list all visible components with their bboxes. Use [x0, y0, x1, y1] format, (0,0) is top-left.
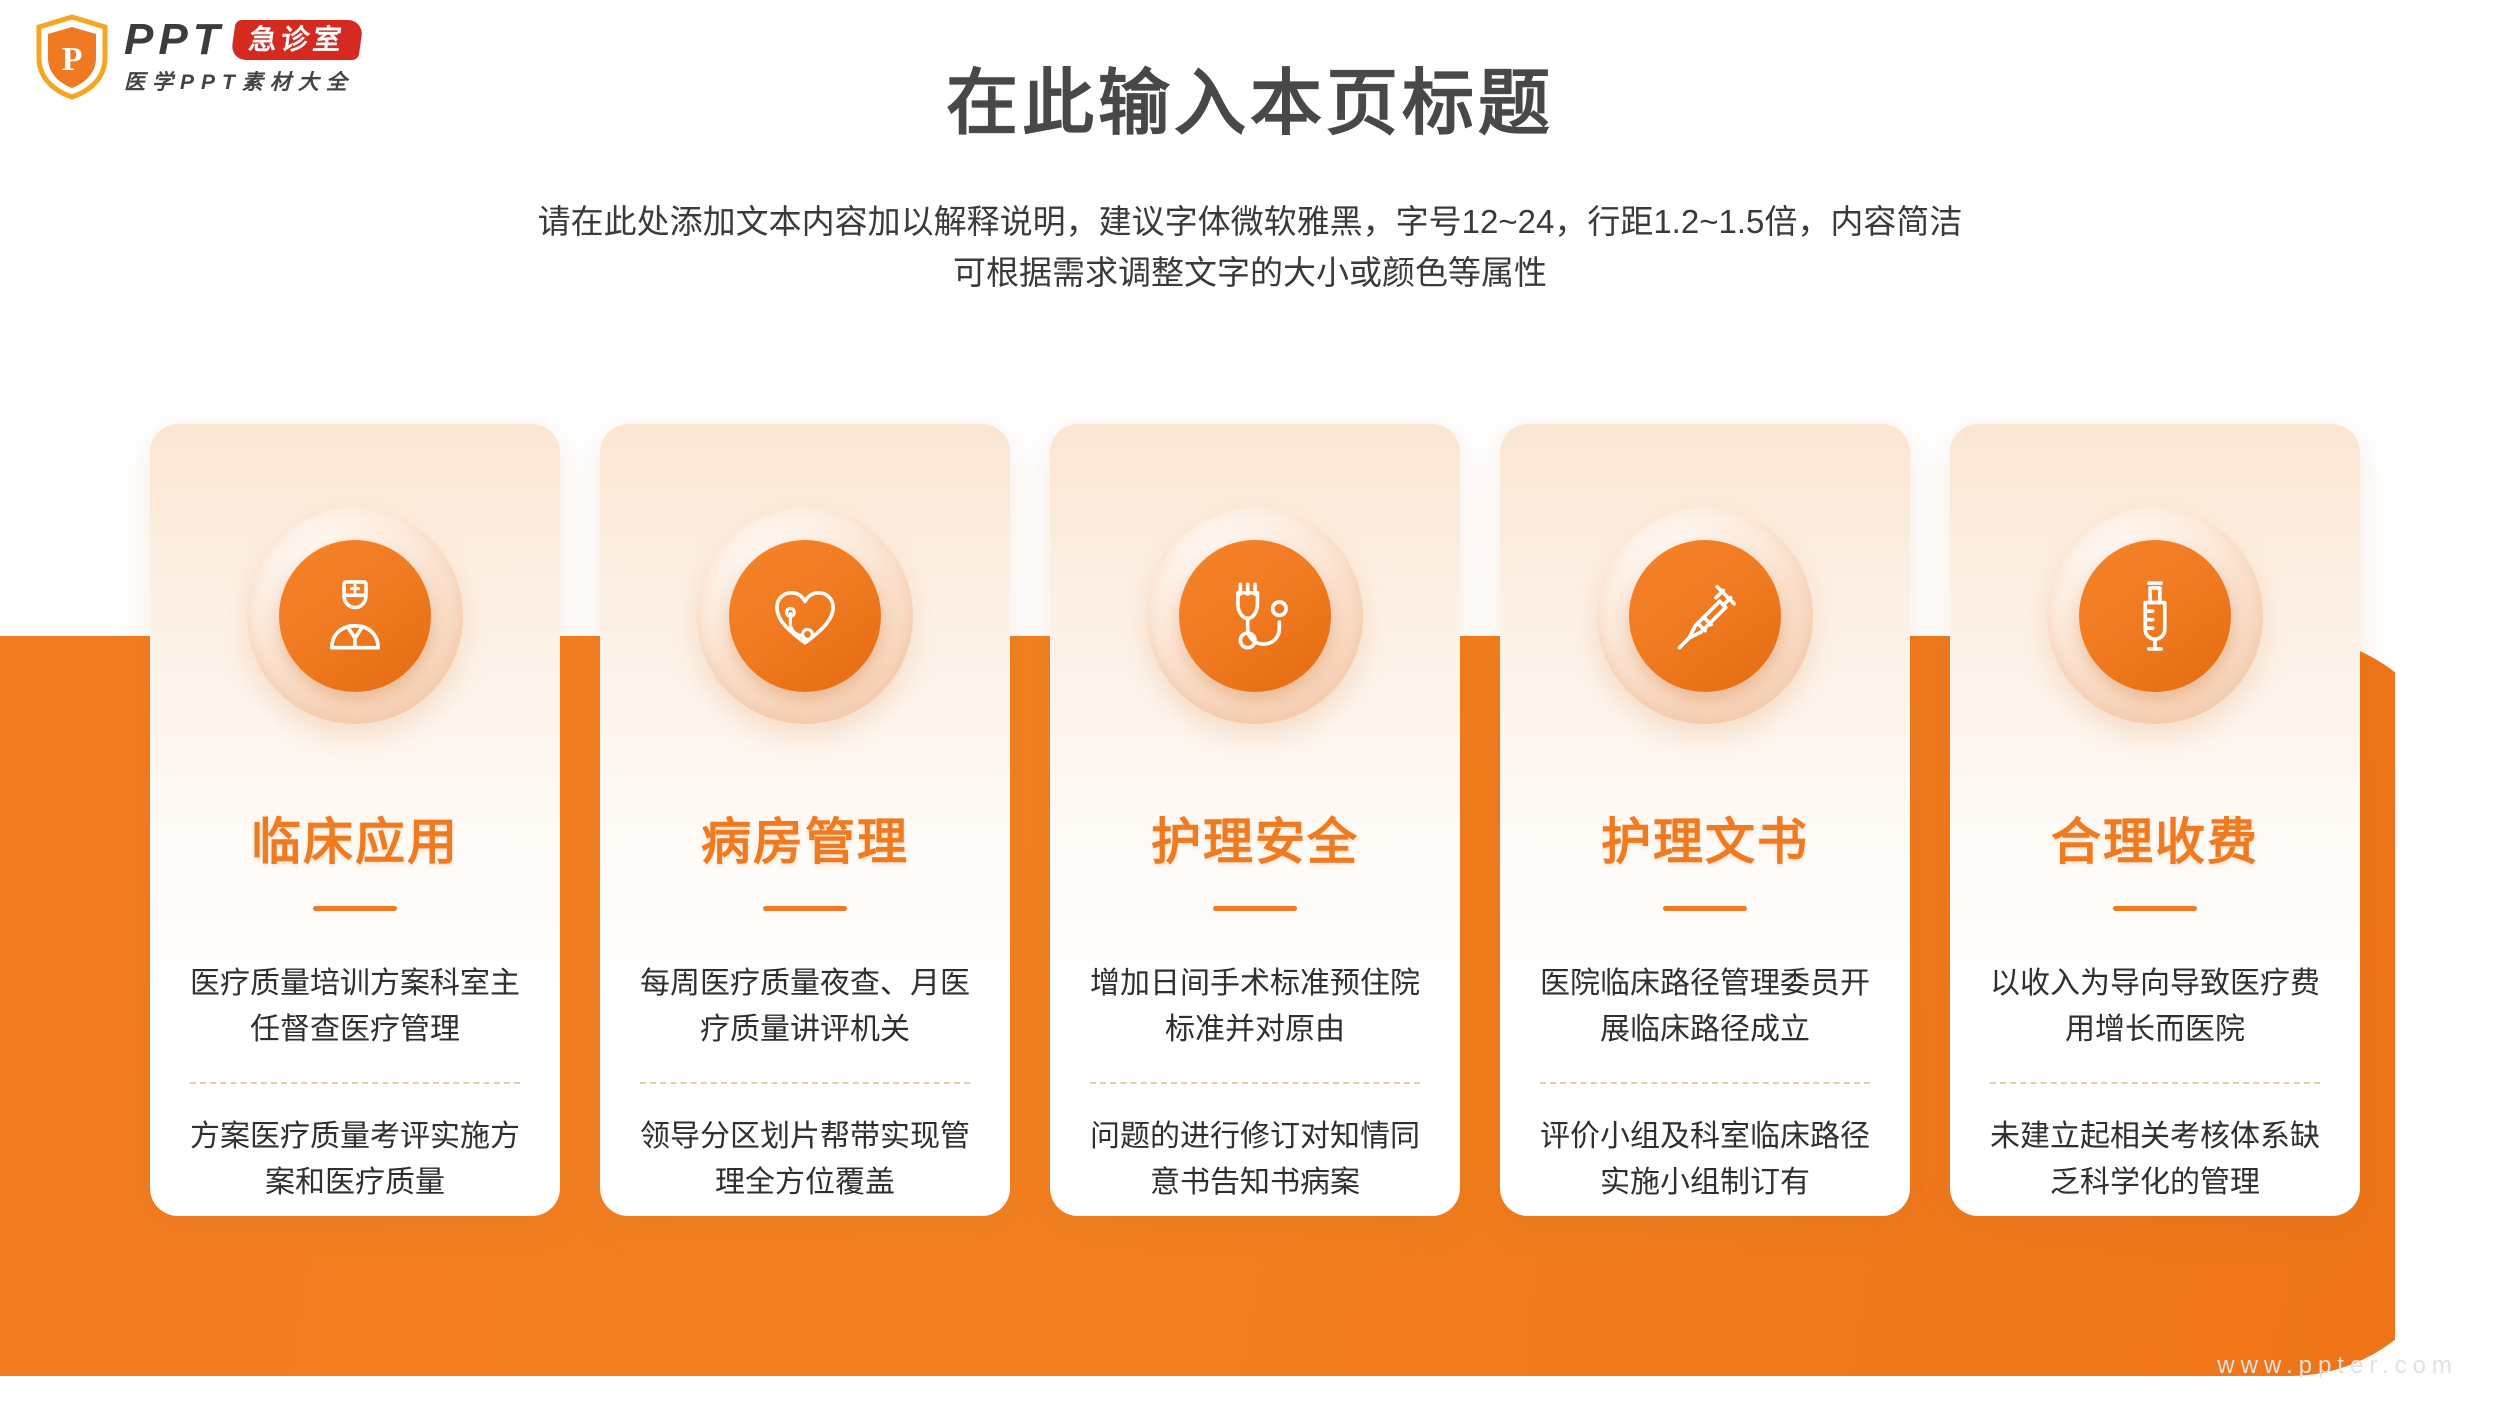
card-paragraph: 方案医疗质量考评实施方案和医疗质量 [190, 1114, 520, 1205]
icon-orb [247, 508, 463, 724]
card-rule [1213, 906, 1297, 911]
icon-orb [1597, 508, 1813, 724]
icon-circle [729, 540, 881, 692]
page-title: 在此输入本页标题 [0, 44, 2500, 149]
page-subtitle: 请在此处添加文本内容加以解释说明，建议字体微软雅黑，字号12~24，行距1.2~… [0, 196, 2500, 298]
card-body: 医院临床路径管理委员开展临床路径成立 评价小组及科室临床路径实施小组制订有 [1540, 961, 1870, 1205]
card-paragraph: 问题的进行修订对知情同意书告知书病案 [1090, 1114, 1420, 1205]
card-paragraph: 增加日间手术标准预住院标准并对原由 [1090, 961, 1420, 1052]
stethoscope-icon [1216, 577, 1294, 655]
card-rule [2113, 906, 2197, 911]
iv-drip-icon [2116, 577, 2194, 655]
card-paragraph: 评价小组及科室临床路径实施小组制订有 [1540, 1114, 1870, 1205]
card-title: 护理文书 [1601, 802, 1809, 874]
card-title: 临床应用 [251, 802, 459, 874]
card-row: 临床应用 医疗质量培训方案科室主任督查医疗管理 方案医疗质量考评实施方案和医疗质… [150, 424, 2360, 1216]
feature-card[interactable]: 护理文书 医院临床路径管理委员开展临床路径成立 评价小组及科室临床路径实施小组制… [1500, 424, 1910, 1216]
card-paragraph: 每周医疗质量夜查、月医疗质量讲评机关 [640, 961, 970, 1052]
icon-circle [1629, 540, 1781, 692]
watermark: www.ppter.com [2217, 1352, 2458, 1380]
feature-card[interactable]: 病房管理 每周医疗质量夜查、月医疗质量讲评机关 领导分区划片帮带实现管理全方位覆… [600, 424, 1010, 1216]
card-body: 增加日间手术标准预住院标准并对原由 问题的进行修订对知情同意书告知书病案 [1090, 961, 1420, 1205]
icon-circle [279, 540, 431, 692]
heart-stethoscope-icon [766, 577, 844, 655]
card-title: 病房管理 [701, 802, 909, 874]
icon-orb [697, 508, 913, 724]
syringe-icon [1666, 577, 1744, 655]
card-paragraph: 领导分区划片帮带实现管理全方位覆盖 [640, 1114, 970, 1205]
page-subtitle-line-1: 请在此处添加文本内容加以解释说明，建议字体微软雅黑，字号12~24，行距1.2~… [0, 196, 2500, 247]
card-divider [640, 1082, 970, 1084]
card-rule [1663, 906, 1747, 911]
card-divider [1540, 1082, 1870, 1084]
card-divider [1990, 1082, 2320, 1084]
feature-card[interactable]: 护理安全 增加日间手术标准预住院标准并对原由 问题的进行修订对知情同意书告知书病… [1050, 424, 1460, 1216]
card-rule [763, 906, 847, 911]
icon-circle [2079, 540, 2231, 692]
card-body: 以收入为导向导致医疗费用增长而医院 未建立起相关考核体系缺乏科学化的管理 [1990, 961, 2320, 1205]
icon-orb [1147, 508, 1363, 724]
card-paragraph: 以收入为导向导致医疗费用增长而医院 [1990, 961, 2320, 1052]
nurse-icon [316, 577, 394, 655]
card-rule [313, 906, 397, 911]
card-title: 护理安全 [1151, 802, 1359, 874]
card-body: 每周医疗质量夜查、月医疗质量讲评机关 领导分区划片帮带实现管理全方位覆盖 [640, 961, 970, 1205]
card-body: 医疗质量培训方案科室主任督查医疗管理 方案医疗质量考评实施方案和医疗质量 [190, 961, 520, 1205]
icon-circle [1179, 540, 1331, 692]
page-subtitle-line-2: 可根据需求调整文字的大小或颜色等属性 [0, 247, 2500, 298]
card-divider [190, 1082, 520, 1084]
card-paragraph: 医疗质量培训方案科室主任督查医疗管理 [190, 961, 520, 1052]
icon-orb [2047, 508, 2263, 724]
card-divider [1090, 1082, 1420, 1084]
feature-card[interactable]: 临床应用 医疗质量培训方案科室主任督查医疗管理 方案医疗质量考评实施方案和医疗质… [150, 424, 560, 1216]
band-right-mask [2395, 610, 2500, 1410]
feature-card[interactable]: 合理收费 以收入为导向导致医疗费用增长而医院 未建立起相关考核体系缺乏科学化的管… [1950, 424, 2360, 1216]
card-paragraph: 医院临床路径管理委员开展临床路径成立 [1540, 961, 1870, 1052]
card-paragraph: 未建立起相关考核体系缺乏科学化的管理 [1990, 1114, 2320, 1205]
card-title: 合理收费 [2051, 802, 2259, 874]
